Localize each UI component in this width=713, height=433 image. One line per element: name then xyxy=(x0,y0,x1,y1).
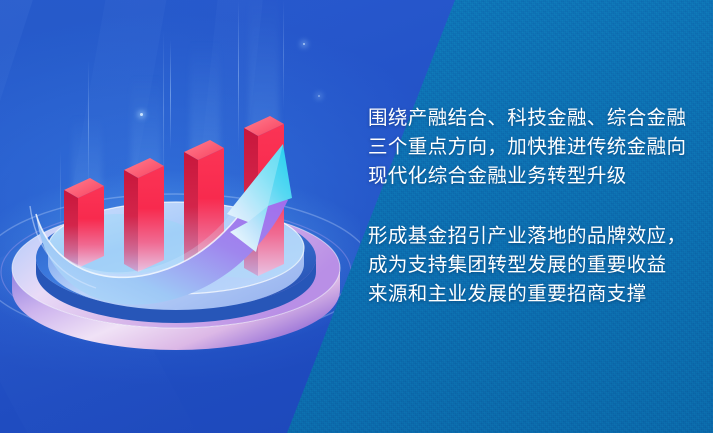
bar-1 xyxy=(64,178,104,268)
paragraph-two: 形成基金招引产业落地的品牌效应， 成为支持集团转型发展的重要收益 来源和主业发展… xyxy=(368,222,698,309)
copy-block: 围绕产融结合、科技金融、综合金融 三个重点方向，加快推进传统金融向 现代化综合金… xyxy=(368,104,698,309)
paragraph-one: 围绕产融结合、科技金融、综合金融 三个重点方向，加快推进传统金融向 现代化综合金… xyxy=(368,104,698,191)
bar-2 xyxy=(124,158,164,272)
growth-chart-illustration xyxy=(0,0,360,433)
banner-canvas: 围绕产融结合、科技金融、综合金融 三个重点方向，加快推进传统金融向 现代化综合金… xyxy=(0,0,713,433)
